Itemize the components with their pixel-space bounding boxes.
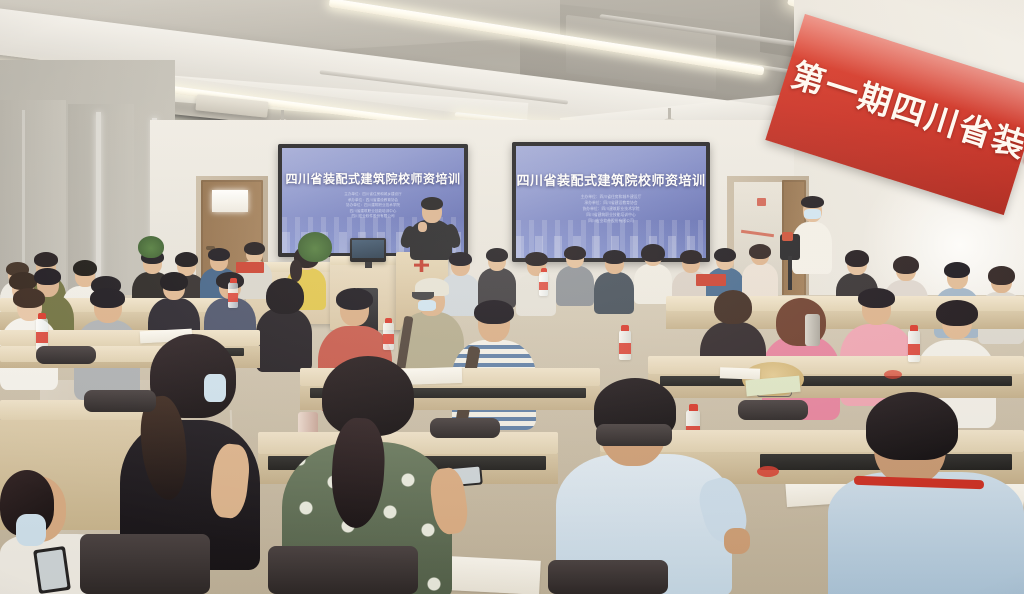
projection-screen-right: 四川省装配式建筑院校师资培训 主办单位：四川省住房和城乡建设厅 承办单位：四川省…: [512, 142, 710, 262]
door-window-left: [212, 190, 248, 212]
cameraman-face-mask: [804, 209, 821, 219]
speaker-hair: [421, 197, 443, 210]
speaker: [402, 196, 462, 258]
water-bottle-3: [383, 322, 394, 350]
cameraman-hair: [801, 196, 824, 208]
camera-tripod: [788, 256, 792, 290]
slide-title-left: 四川省装配式建筑院校师资培训: [282, 170, 464, 187]
hongye-logo-icon: [414, 258, 429, 272]
red-desk-sticker: [757, 466, 779, 477]
water-bottle-5: [908, 330, 920, 362]
monitor-stand: [365, 262, 372, 268]
cap-bill: [412, 292, 434, 300]
desktop-monitor: [350, 238, 386, 262]
desk-row4-right: [648, 356, 1024, 374]
chair-row4-right[interactable]: [596, 424, 672, 446]
woman-black-top-foreground: [120, 334, 280, 564]
chair-row3-mid[interactable]: [430, 418, 500, 438]
blue-shirt-hand: [724, 528, 750, 554]
chair-foreground-1[interactable]: [80, 534, 210, 594]
chair-foreground-2[interactable]: [268, 546, 418, 594]
chair-row3-left[interactable]: [84, 390, 156, 412]
potted-plant: [298, 232, 332, 262]
chair-row4-mid[interactable]: [738, 400, 808, 420]
monitor-screen: [352, 240, 384, 258]
held-smartphone-screen: [36, 549, 67, 590]
attendee-mid-6: [634, 244, 672, 302]
potted-plant-2: [138, 236, 164, 258]
held-smartphone[interactable]: [33, 546, 71, 594]
camera-red-light: [782, 232, 793, 241]
red-box-on-desk-2: [696, 274, 726, 286]
red-desk-sticker-2: [884, 370, 902, 379]
water-bottle-7: [539, 272, 548, 296]
water-bottle-4: [619, 330, 631, 360]
black-top-face-mask: [204, 374, 226, 402]
slide-subtitle-right: 主办单位：四川省住房和城乡建设厅 承办单位：四川省建设教育协会 协办单位：四川建…: [516, 194, 706, 223]
bottle-label: [36, 332, 48, 343]
red-box-on-desk: [236, 262, 264, 273]
slide-right: 四川省装配式建筑院校师资培训 主办单位：四川省住房和城乡建设厅 承办单位：四川省…: [516, 146, 706, 258]
attendee-mid-2: [478, 248, 516, 306]
attendee-mid-4: [556, 246, 594, 304]
phone-person-mask: [16, 514, 46, 546]
exit-sign-icon: [757, 198, 766, 206]
chair-far-left[interactable]: [36, 346, 96, 364]
thermos-tumbler-1: [805, 314, 820, 346]
speaker-hand: [418, 222, 427, 232]
attendee-mid-5: [594, 250, 634, 312]
slide-title-right: 四川省装配式建筑院校师资培训: [516, 170, 706, 189]
chair-foreground-3[interactable]: [548, 560, 668, 594]
water-bottle-2: [228, 282, 238, 308]
lanyard-hair: [866, 392, 958, 460]
lanyard-shirt-torso: [828, 472, 1024, 594]
classroom-training-photo: 第一期四川省装配式建筑院 四川省装配式建筑院校师资培训 主办单位：四川省住房和城…: [0, 0, 1024, 594]
man-blue-shirt-lanyard: [828, 392, 1024, 594]
